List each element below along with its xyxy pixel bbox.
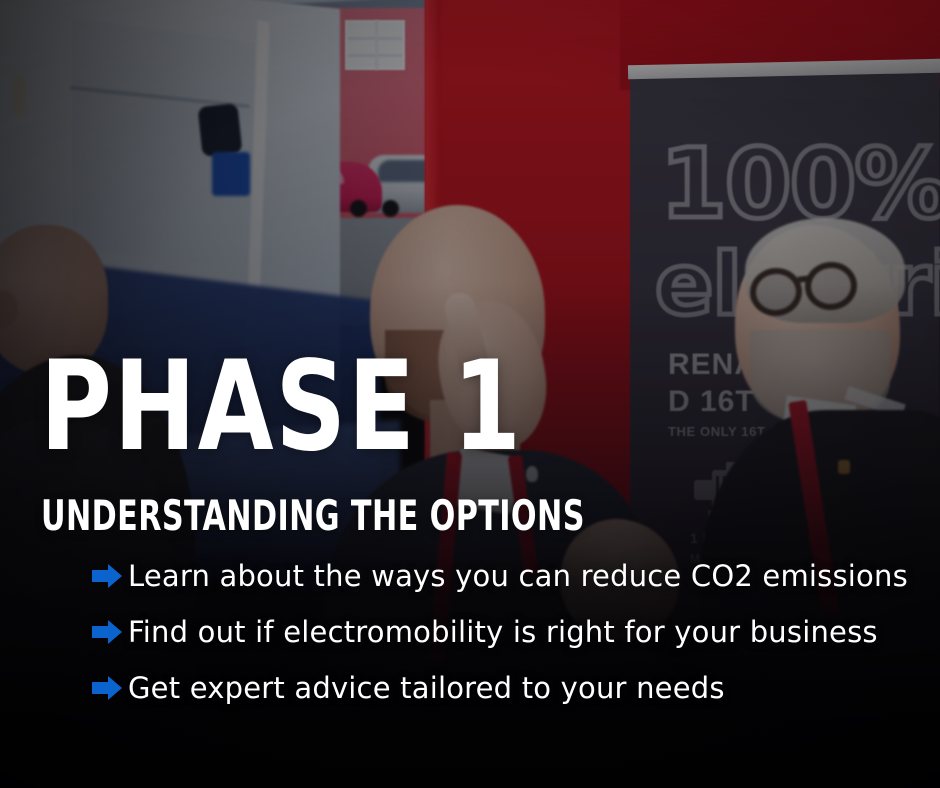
list-item-label: Get expert advice tailored to your needs (128, 671, 725, 705)
arrow-right-icon (92, 676, 122, 700)
page-title: PHASE 1 (40, 348, 523, 466)
page-subtitle: UNDERSTANDING THE OPTIONS (41, 495, 585, 537)
slide-content: PHASE 1 UNDERSTANDING THE OPTIONS Learn … (0, 0, 940, 788)
list-item: Learn about the ways you can reduce CO2 … (92, 548, 922, 603)
list-item-label: Learn about the ways you can reduce CO2 … (128, 559, 908, 593)
list-item: Get expert advice tailored to your needs (92, 660, 922, 715)
list-item-label: Find out if electromobility is right for… (128, 615, 878, 649)
arrow-right-icon (92, 564, 122, 588)
promo-slide: 100% electric RENAU D 16T THE ONLY 16T E… (0, 0, 940, 788)
list-item: Find out if electromobility is right for… (92, 604, 922, 659)
bullet-list: Learn about the ways you can reduce CO2 … (92, 548, 922, 716)
arrow-right-icon (92, 620, 122, 644)
